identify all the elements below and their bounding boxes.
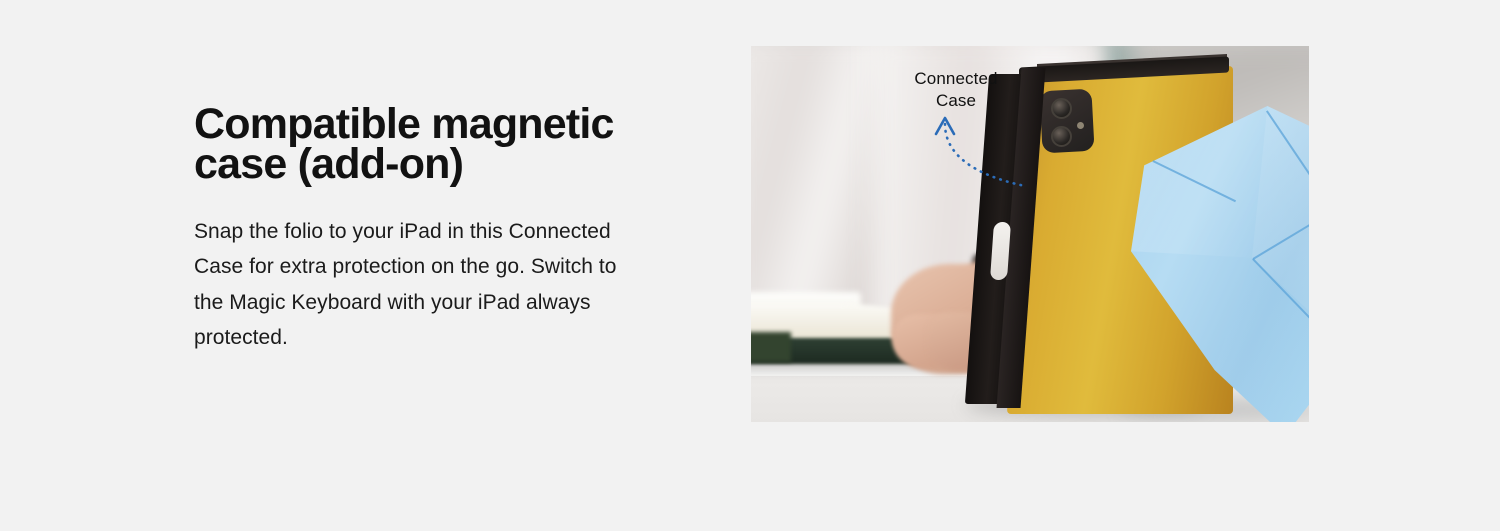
annotation-label-line1: Connected	[891, 68, 1021, 90]
magnetic-stand	[1131, 106, 1309, 422]
camera-flash-icon	[1077, 122, 1084, 129]
camera-lens-wide-icon	[1051, 98, 1072, 119]
book-spine	[751, 332, 791, 362]
annotation-label: Connected Case	[891, 68, 1021, 112]
body-paragraph: Snap the folio to your iPad in this Conn…	[194, 214, 639, 355]
camera-lens-ultrawide-icon	[1051, 126, 1072, 147]
page-title: Compatible magnetic case (add-on)	[194, 104, 654, 184]
text-column: Compatible magnetic case (add-on) Snap t…	[194, 104, 654, 355]
product-photo: Connected Case	[751, 46, 1309, 422]
annotation-arrow-icon	[931, 108, 1051, 198]
promo-section: Compatible magnetic case (add-on) Snap t…	[0, 0, 1500, 531]
